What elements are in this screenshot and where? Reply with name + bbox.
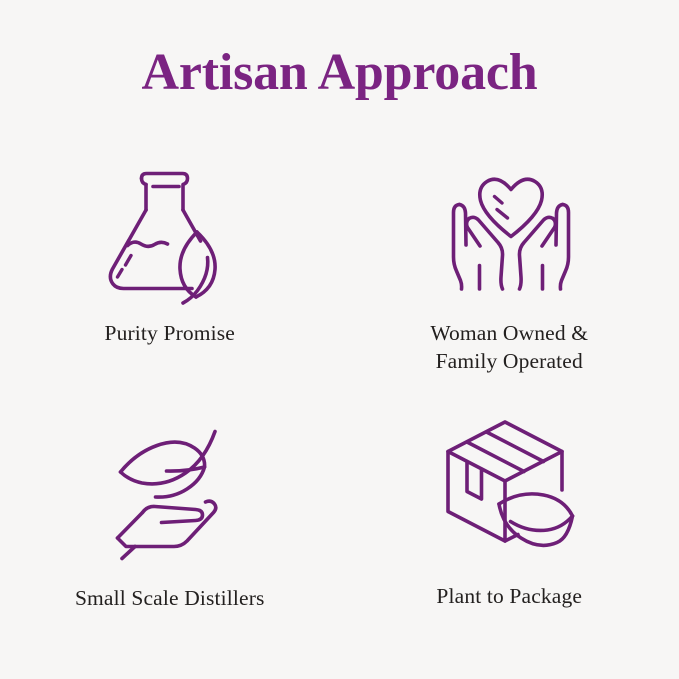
- feature-label: Woman Owned & Family Operated: [430, 320, 588, 375]
- box-leaf-icon: [434, 411, 584, 561]
- feature-item-purity-promise: Purity Promise: [0, 152, 340, 397]
- feature-item-small-scale-distillers: Small Scale Distillers: [0, 397, 340, 642]
- feature-label: Small Scale Distillers: [75, 585, 265, 613]
- hands-heart-icon: [436, 158, 586, 308]
- feature-item-plant-to-package: Plant to Package: [340, 397, 679, 642]
- feature-label: Plant to Package: [436, 583, 582, 611]
- flask-leaf-icon: [96, 158, 246, 308]
- hand-leaf-icon: [95, 417, 245, 567]
- features-grid: Purity Promise: [0, 152, 679, 642]
- artisan-approach-panel: Artisan Approach: [0, 0, 679, 679]
- page-title: Artisan Approach: [0, 47, 679, 99]
- feature-item-woman-owned: Woman Owned & Family Operated: [340, 152, 679, 397]
- feature-label: Purity Promise: [104, 320, 235, 348]
